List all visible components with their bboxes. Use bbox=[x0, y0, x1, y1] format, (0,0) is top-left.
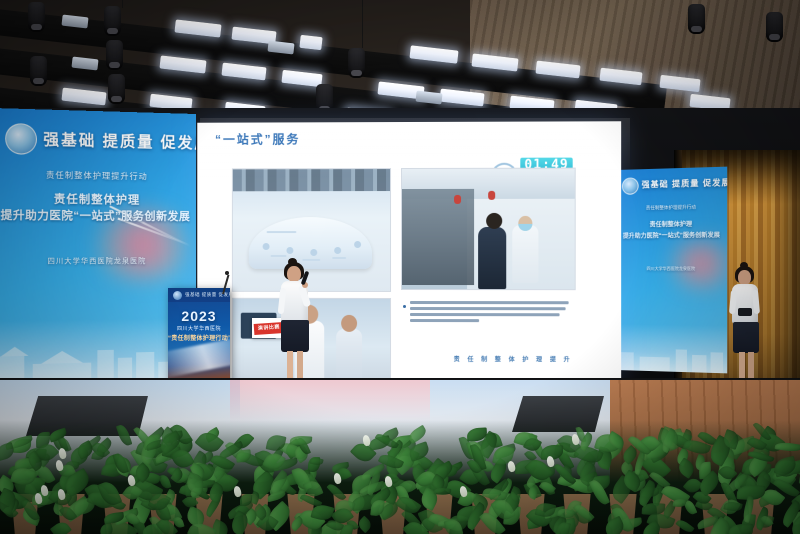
red-lantern-decor bbox=[488, 191, 495, 200]
banner-organization: 四川大学华西医院龙泉医院 bbox=[616, 266, 727, 272]
red-lantern-decor bbox=[454, 195, 461, 204]
desk-icon bbox=[310, 249, 317, 256]
slide-footer-text: 责 任 制 整 体 护 理 提 升 bbox=[422, 354, 573, 363]
banner-subtitle-1: 责任制整体护理提升行动 bbox=[0, 169, 196, 183]
floor-light-reflection bbox=[230, 380, 430, 424]
plant-leaf bbox=[641, 502, 664, 515]
pagoda-icon bbox=[1, 347, 29, 357]
skyline-building bbox=[620, 352, 634, 370]
banner-skyline-graphic bbox=[616, 324, 727, 373]
skyline-building bbox=[711, 352, 723, 373]
plant-flower bbox=[507, 460, 516, 472]
desk-detail bbox=[267, 231, 297, 233]
moving-head-light bbox=[30, 56, 47, 86]
attendant-head bbox=[738, 270, 751, 285]
red-sign-text: 演讲比赛 bbox=[254, 322, 285, 335]
rigging-cable bbox=[122, 0, 123, 8]
banner-subtitle-3: 提升助力医院“一站式”服务创新发展 bbox=[0, 206, 196, 224]
desk-icon bbox=[334, 247, 341, 254]
banner-subtitle-2: 责任制整体护理 bbox=[0, 190, 196, 208]
plant-leaf bbox=[91, 450, 104, 461]
plant-leaf bbox=[290, 435, 312, 445]
banner-screen-left: 强基础 提质量 促发展 责任制整体护理提升行动 责任制整体护理 提升助力医院“一… bbox=[0, 108, 196, 388]
moving-head-light bbox=[688, 4, 705, 34]
desk-icon bbox=[354, 241, 361, 248]
service-desk-shape bbox=[249, 217, 372, 269]
skyline-building bbox=[640, 357, 670, 372]
moving-head-light bbox=[106, 40, 123, 70]
banner-organization: 四川大学华西医院龙泉医院 bbox=[0, 256, 196, 267]
potted-plants-row bbox=[0, 420, 800, 534]
text-line bbox=[410, 301, 569, 304]
tube-light bbox=[299, 35, 322, 50]
banner-headline: 强基础 提质量 促发展 bbox=[642, 177, 728, 191]
photo-second-person-head bbox=[341, 315, 357, 332]
podium-emblem-icon bbox=[173, 291, 182, 300]
plant-leaf bbox=[673, 498, 687, 508]
patient-figure bbox=[478, 227, 506, 289]
plant-leaf bbox=[775, 441, 800, 453]
banner-subtitle-2: 责任制整体护理 bbox=[616, 218, 727, 229]
photo-second-person-body bbox=[336, 329, 362, 379]
photo-ceiling-strip bbox=[233, 169, 390, 191]
slide-photo-corridor bbox=[401, 168, 576, 291]
podium-line-1: 四川大学华西医院 bbox=[168, 325, 230, 332]
skyline-building bbox=[676, 349, 687, 372]
plant-flower bbox=[233, 486, 242, 498]
plant-leaf bbox=[356, 515, 374, 533]
nurse-figure bbox=[512, 225, 538, 283]
hospital-emblem-icon bbox=[622, 177, 639, 194]
moving-head-light bbox=[104, 6, 121, 36]
desk-detail bbox=[332, 257, 346, 259]
patient-head bbox=[486, 213, 502, 229]
desk-icon bbox=[263, 243, 270, 250]
slide-body-text bbox=[399, 298, 576, 356]
banner-subtitle-3: 提升助力医院“一站式”服务创新发展 bbox=[616, 230, 727, 240]
desk-detail bbox=[302, 259, 320, 261]
microphone-head bbox=[225, 271, 229, 275]
banner-screen-right: 强基础 提质量 促发展 责任制整体护理提升行动 责任制整体护理 提升助力医院“一… bbox=[616, 167, 727, 374]
main-led-screen: “一站式”服务 01:49 倒 计 时 bbox=[197, 121, 621, 380]
banner-headline: 强基础 提质量 促发展 bbox=[43, 128, 196, 153]
ceiling bbox=[0, 0, 800, 118]
slide-photo-service-desk bbox=[232, 168, 391, 292]
banner-subtitle-1: 责任制整体护理提升行动 bbox=[616, 204, 727, 212]
bullet-item bbox=[403, 301, 576, 325]
desk-icon bbox=[286, 247, 293, 254]
attendant-skirt bbox=[733, 322, 759, 353]
desk-detail bbox=[271, 255, 287, 257]
plant-leaf bbox=[116, 423, 133, 447]
moving-head-light bbox=[108, 74, 125, 104]
text-line bbox=[410, 313, 559, 316]
moving-head-light bbox=[348, 48, 365, 78]
speaker-head bbox=[287, 266, 301, 282]
rigging-cable bbox=[362, 0, 363, 48]
bullet-dot-icon bbox=[403, 305, 406, 308]
slide-photo-speaker bbox=[232, 298, 391, 380]
text-line bbox=[410, 307, 566, 310]
skyline-building bbox=[692, 355, 706, 373]
moving-head-light bbox=[28, 2, 45, 32]
podium-year: 2023 bbox=[168, 308, 230, 324]
slide-title: “一站式”服务 bbox=[215, 130, 300, 147]
hospital-emblem-icon bbox=[5, 123, 37, 155]
plant-flower bbox=[55, 459, 64, 471]
pagoda-icon bbox=[41, 350, 83, 363]
clipboard bbox=[738, 308, 752, 316]
speaker-skirt bbox=[281, 320, 309, 352]
moving-head-light bbox=[766, 12, 783, 42]
text-line bbox=[410, 319, 479, 322]
corridor-depth bbox=[402, 189, 474, 285]
auditorium-stage-photo: 强基础 提质量 促发展 责任制整体护理提升行动 责任制整体护理 提升助力医院“一… bbox=[0, 0, 800, 534]
bullet-text-lines bbox=[410, 301, 576, 325]
banner-glow bbox=[666, 239, 728, 289]
